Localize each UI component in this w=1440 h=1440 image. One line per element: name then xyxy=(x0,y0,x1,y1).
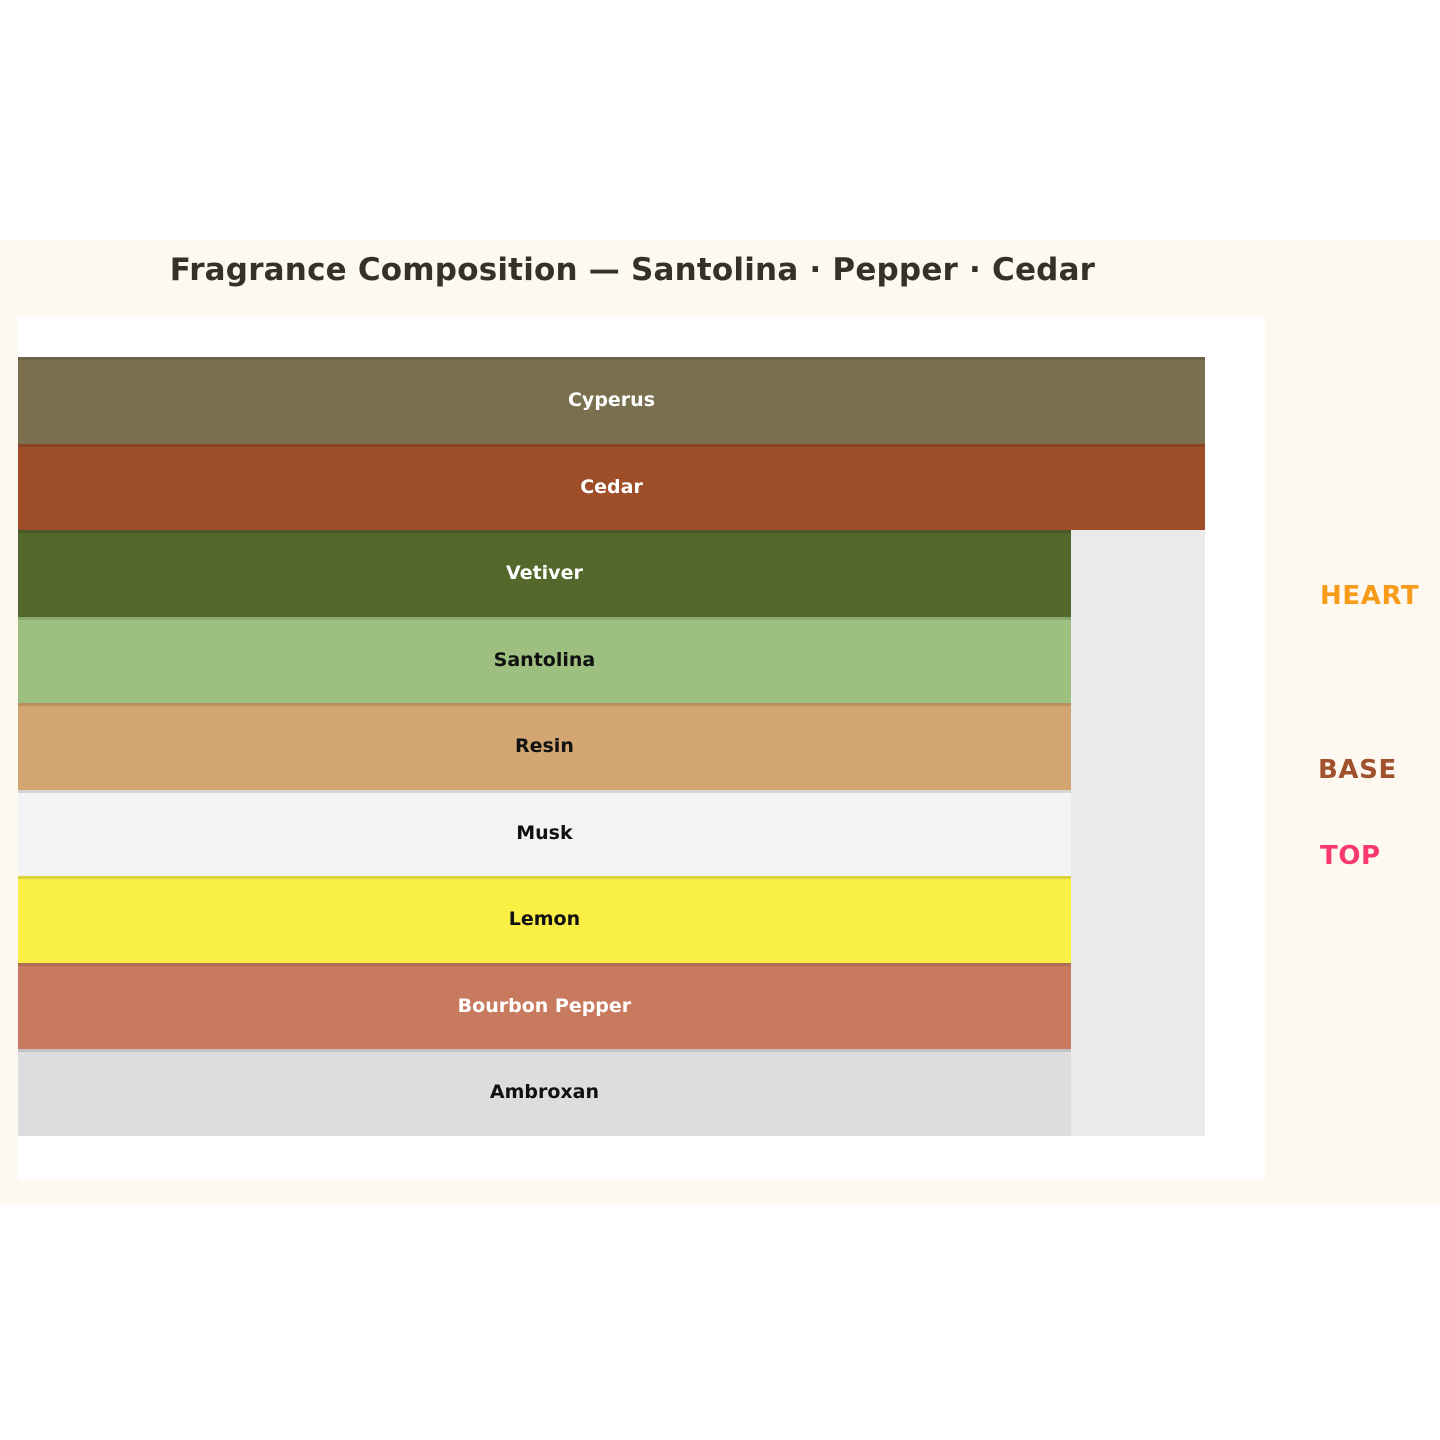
bar-fill[interactable] xyxy=(18,1049,1071,1136)
bar-row[interactable]: Vetiver xyxy=(18,530,1205,617)
page-title: Fragrance Composition — Santolina · Pepp… xyxy=(0,252,1265,288)
bar-row[interactable]: Bourbon Pepper xyxy=(18,963,1205,1050)
bar-row[interactable]: Cyperus xyxy=(18,357,1205,444)
bar-fill[interactable] xyxy=(18,444,1205,531)
bar-fill[interactable] xyxy=(18,530,1071,617)
bar-row[interactable]: Resin xyxy=(18,703,1205,790)
bar-fill[interactable] xyxy=(18,876,1071,963)
bar-fill[interactable] xyxy=(18,617,1071,704)
bar-row[interactable]: Santolina xyxy=(18,617,1205,704)
bar-row[interactable]: Lemon xyxy=(18,876,1205,963)
stage-label-top: TOP xyxy=(1320,841,1381,871)
figure-canvas: Fragrance Composition — Santolina · Pepp… xyxy=(0,240,1440,1205)
plot-area: CyperusCedarVetiverSantolinaResinMuskLem… xyxy=(18,317,1265,1180)
bar-fill[interactable] xyxy=(18,357,1205,444)
bar-fill[interactable] xyxy=(18,963,1071,1050)
stage-label-heart: HEART xyxy=(1320,581,1419,611)
bar-row[interactable]: Musk xyxy=(18,790,1205,877)
bar-row[interactable]: Ambroxan xyxy=(18,1049,1205,1136)
bar-row[interactable]: Cedar xyxy=(18,444,1205,531)
bar-fill[interactable] xyxy=(18,790,1071,877)
bar-fill[interactable] xyxy=(18,703,1071,790)
stage-label-base: BASE xyxy=(1318,755,1397,785)
screenshot-root: Fragrance Composition — Santolina · Pepp… xyxy=(0,0,1440,1440)
